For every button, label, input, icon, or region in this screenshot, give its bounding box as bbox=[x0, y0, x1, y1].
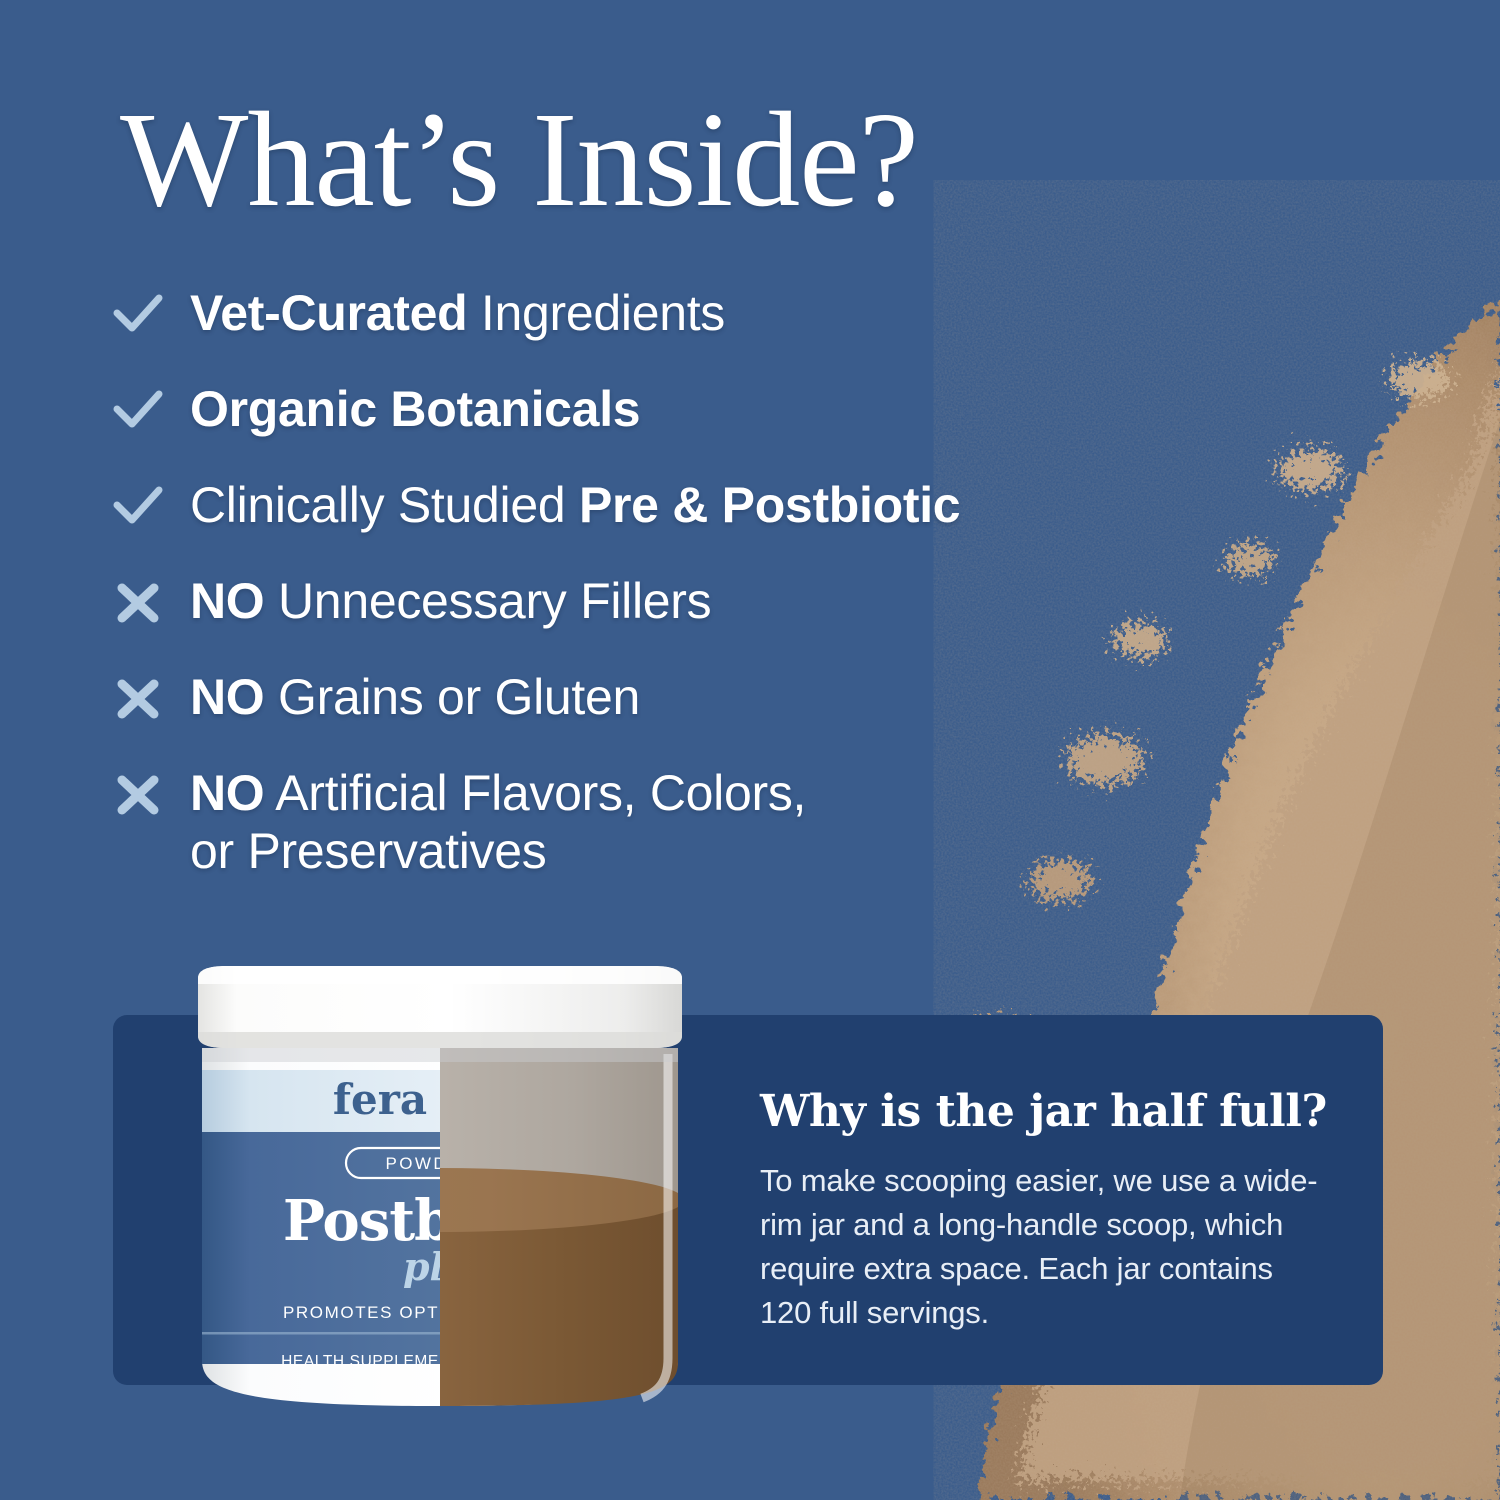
list-item-emphasis: Organic Botanicals bbox=[190, 381, 640, 437]
x-icon bbox=[112, 570, 190, 632]
check-icon bbox=[112, 474, 190, 536]
list-item-emphasis: Pre & Postbiotic bbox=[579, 477, 960, 533]
list-item-label: NO Unnecessary Fillers bbox=[190, 570, 711, 630]
list-item-emphasis: NO bbox=[190, 669, 264, 725]
check-icon bbox=[112, 378, 190, 440]
product-jar-image: fera POWDER Postbiotic plus PROMOTES OPT… bbox=[190, 962, 690, 1412]
info-card-text: Why is the jar half full? To make scoopi… bbox=[760, 1087, 1330, 1335]
list-item: Organic Botanicals bbox=[112, 378, 1142, 474]
info-card-heading: Why is the jar half full? bbox=[760, 1087, 1330, 1137]
list-item-label: NO Grains or Gluten bbox=[190, 666, 640, 726]
list-item-emphasis: Vet-Curated bbox=[190, 285, 467, 341]
list-item-emphasis: NO bbox=[190, 573, 264, 629]
list-item-emphasis: NO bbox=[190, 765, 264, 821]
x-icon bbox=[112, 666, 190, 728]
list-item: NO Artificial Flavors, Colors, or Preser… bbox=[112, 762, 1142, 880]
list-item-label: Clinically Studied Pre & Postbiotic bbox=[190, 474, 960, 534]
list-item-rest: Ingredients bbox=[467, 285, 725, 341]
list-item: NO Unnecessary Fillers bbox=[112, 570, 1142, 666]
benefit-list: Vet-Curated Ingredients Organic Botanica… bbox=[112, 282, 1142, 880]
jar-brand-wordmark: fera bbox=[333, 1075, 427, 1124]
list-item-label: Vet-Curated Ingredients bbox=[190, 282, 725, 342]
page-title: What’s Inside? bbox=[120, 92, 918, 228]
list-item: Clinically Studied Pre & Postbiotic bbox=[112, 474, 1142, 570]
list-item-rest: Clinically Studied bbox=[190, 477, 579, 533]
info-card-body: To make scooping easier, we use a wide-r… bbox=[760, 1159, 1330, 1335]
infographic-canvas: What’s Inside? Vet-Curated Ingredients O… bbox=[0, 0, 1500, 1500]
x-icon bbox=[112, 762, 190, 824]
list-item: NO Grains or Gluten bbox=[112, 666, 1142, 762]
list-item-rest: Artificial Flavors, Colors, or Preservat… bbox=[190, 765, 806, 879]
list-item-rest: Unnecessary Fillers bbox=[264, 573, 711, 629]
list-item: Vet-Curated Ingredients bbox=[112, 282, 1142, 378]
list-item-rest: Grains or Gluten bbox=[264, 669, 640, 725]
list-item-label: Organic Botanicals bbox=[190, 378, 640, 438]
list-item-label: NO Artificial Flavors, Colors, or Preser… bbox=[190, 762, 806, 880]
check-icon bbox=[112, 282, 190, 344]
